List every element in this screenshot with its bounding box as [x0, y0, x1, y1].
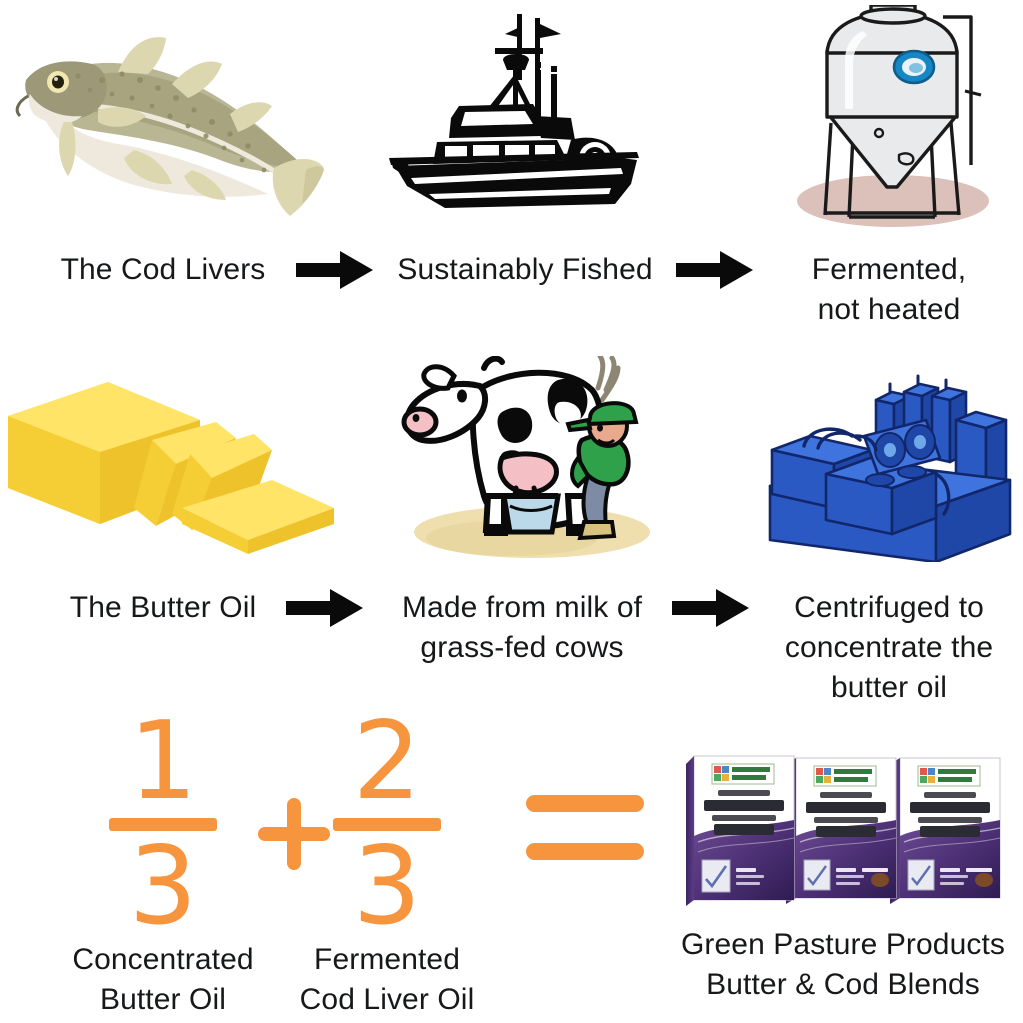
step-label-butter-oil: The Butter Oil — [8, 588, 318, 628]
fishing-boat-illustration — [385, 8, 645, 228]
cod-fish-illustration — [6, 18, 326, 233]
fraction-one-third: 1 3 — [88, 712, 238, 937]
infographic-canvas: The Cod Livers Sustainably Fished Fermen… — [0, 0, 1023, 1023]
fraction-numerator: 1 — [88, 712, 238, 812]
step-label-grass-fed: Made from milk of grass-fed cows — [374, 588, 670, 668]
fraction-numerator: 2 — [312, 712, 462, 812]
step-label-sustainably-fished: Sustainably Fished — [380, 250, 670, 290]
arrow-right-icon — [676, 250, 754, 290]
fraction-two-thirds: 2 3 — [312, 712, 462, 937]
cow-milking-illustration — [392, 356, 660, 561]
fraction-denominator: 3 — [312, 837, 462, 937]
result-label: Green Pasture Products Butter & Cod Blen… — [664, 925, 1022, 1005]
term-label-cod: Fermented Cod Liver Oil — [262, 940, 512, 1020]
fermentation-tank-illustration — [775, 5, 1010, 230]
centrifuge-machine-illustration — [760, 362, 1016, 562]
step-label-cod-livers: The Cod Livers — [8, 250, 318, 290]
equals-operator-icon — [526, 795, 644, 861]
fraction-denominator: 3 — [88, 837, 238, 937]
step-label-centrifuged: Centrifuged to concentrate the butter oi… — [758, 588, 1020, 708]
butter-block-illustration — [4, 368, 342, 558]
arrow-right-icon — [296, 250, 374, 290]
arrow-right-icon — [286, 588, 364, 628]
arrow-right-icon — [672, 588, 750, 628]
product-boxes-illustration — [686, 752, 1008, 912]
step-label-fermented: Fermented, not heated — [760, 250, 1018, 330]
term-label-butter: Concentrated Butter Oil — [28, 940, 298, 1020]
